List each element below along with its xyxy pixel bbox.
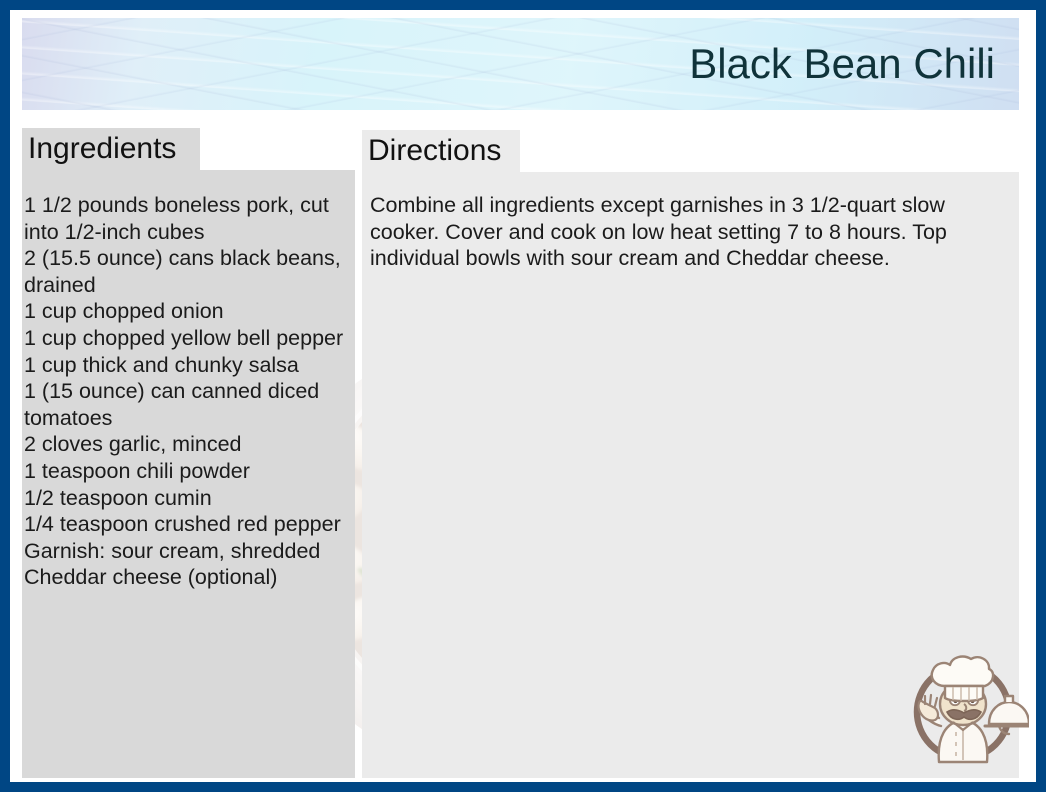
ingredient-item: 1 cup thick and chunky salsa xyxy=(24,352,354,379)
ingredients-heading: Ingredients xyxy=(22,128,200,170)
directions-body: Combine all ingredients except garnishes… xyxy=(370,192,965,272)
ingredient-item: 1 cup chopped yellow bell pepper xyxy=(24,325,354,352)
ingredient-item: 1 cup chopped onion xyxy=(24,298,354,325)
ingredient-item: 1 (15 ounce) can canned diced tomatoes xyxy=(24,378,354,431)
chef-logo xyxy=(901,646,1029,774)
ingredient-item: Garnish: sour cream, shredded Cheddar ch… xyxy=(24,538,354,591)
page-title: Black Bean Chili xyxy=(689,42,995,86)
ingredient-item: 1/4 teaspoon crushed red pepper xyxy=(24,511,354,538)
recipe-slide: Black Bean Chili xyxy=(0,0,1046,792)
ingredient-item: 2 cloves garlic, minced xyxy=(24,431,354,458)
title-banner: Black Bean Chili xyxy=(22,18,1019,110)
ingredient-item: 1 teaspoon chili powder xyxy=(24,458,354,485)
directions-heading: Directions xyxy=(362,130,520,172)
ingredient-item: 1 1/2 pounds boneless pork, cut into 1/2… xyxy=(24,192,354,245)
ingredient-item: 2 (15.5 ounce) cans black beans, drained xyxy=(24,245,354,298)
ingredient-item: 1/2 teaspoon cumin xyxy=(24,485,354,512)
ingredients-list: 1 1/2 pounds boneless pork, cut into 1/2… xyxy=(24,192,354,591)
